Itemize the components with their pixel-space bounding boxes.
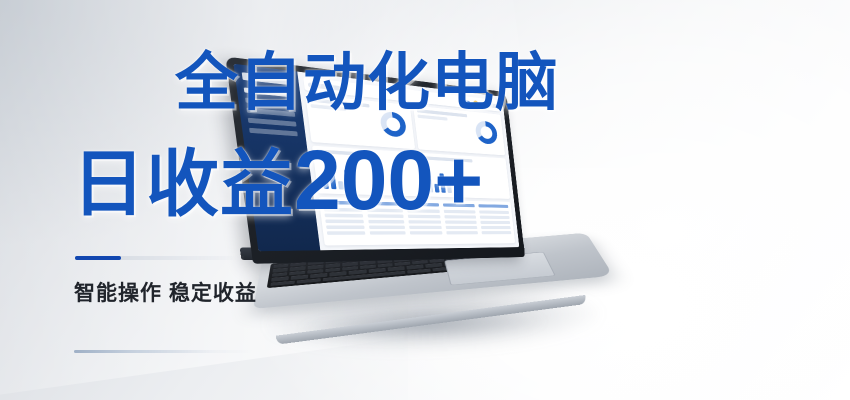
sidebar-item-reports bbox=[245, 98, 294, 108]
stat-card-donut bbox=[305, 94, 414, 149]
table-row bbox=[325, 220, 510, 224]
bell-icon bbox=[473, 100, 479, 106]
donut-chart bbox=[474, 120, 498, 145]
laptop-lid bbox=[225, 56, 525, 263]
topbar-user-chip bbox=[481, 102, 497, 108]
bottom-rule bbox=[74, 350, 252, 353]
sidebar-item-users bbox=[248, 118, 297, 127]
card-subtitle bbox=[417, 114, 447, 120]
table-row bbox=[326, 225, 511, 228]
promo-banner: 全自动化电脑 日收益200+ 智能操作 稳定收益 bbox=[0, 0, 850, 400]
table-row bbox=[325, 214, 510, 219]
topbar-action-button bbox=[459, 99, 471, 104]
card-subtitle bbox=[310, 104, 346, 111]
stat-card-bar bbox=[312, 146, 420, 197]
stat-card-bar bbox=[418, 153, 510, 199]
accent-divider bbox=[75, 256, 245, 260]
card-title bbox=[422, 156, 472, 162]
dashboard-table bbox=[319, 197, 516, 246]
table-header-row bbox=[323, 201, 508, 208]
card-title bbox=[316, 149, 376, 156]
sidebar-item-settings bbox=[249, 128, 298, 137]
table-row bbox=[327, 231, 511, 234]
bar-chart bbox=[321, 165, 351, 190]
sidebar-item-dashboard bbox=[244, 87, 293, 97]
table-row bbox=[324, 208, 509, 214]
sidebar-item-orders bbox=[246, 108, 295, 117]
stat-card-donut bbox=[413, 105, 506, 155]
bar-chart bbox=[426, 170, 452, 193]
laptop-screen bbox=[233, 64, 519, 252]
subtitle: 智能操作 稳定收益 bbox=[74, 277, 257, 307]
donut-chart bbox=[379, 111, 407, 138]
dashboard-card-grid bbox=[305, 94, 510, 199]
dashboard-main bbox=[297, 72, 519, 251]
dashboard-logo bbox=[242, 72, 293, 85]
topbar-breadcrumb bbox=[308, 82, 342, 91]
laptop-mockup bbox=[253, 90, 622, 372]
